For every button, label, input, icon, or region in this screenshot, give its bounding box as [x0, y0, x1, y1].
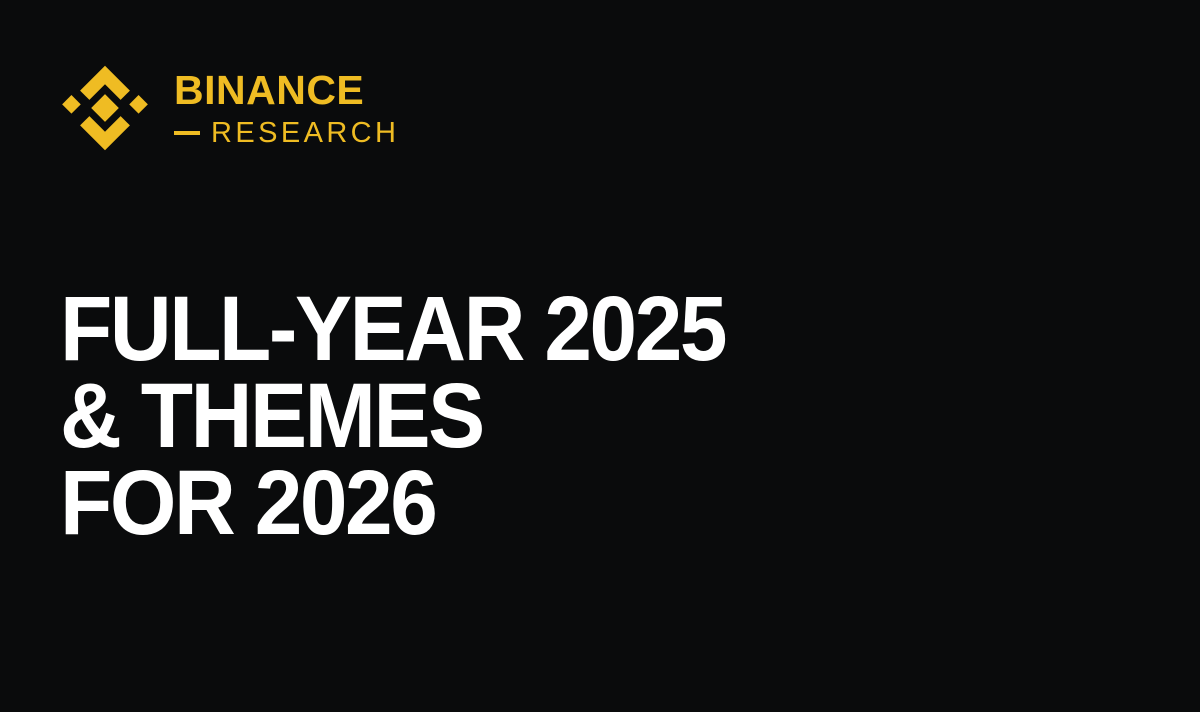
binance-wordmark: BINANCE RESEARCH	[174, 68, 399, 148]
binance-logo-mark	[58, 61, 152, 155]
page-title-line-1: FULL-YEAR 2025	[60, 286, 725, 373]
page-title: FULL-YEAR 2025 & THEMES FOR 2026	[60, 286, 725, 547]
binance-research-logo[interactable]: BINANCE RESEARCH	[58, 61, 399, 155]
page-title-line-2: & THEMES	[60, 373, 725, 460]
brand-sub-label: RESEARCH	[211, 118, 399, 148]
brand-dash-icon	[174, 131, 200, 135]
report-cover: BINANCE RESEARCH FULL-YEAR 2025 & THEMES…	[0, 0, 1200, 712]
brand-name: BINANCE	[174, 70, 399, 112]
brand-subline: RESEARCH	[174, 118, 399, 148]
page-title-line-3: FOR 2026	[60, 460, 725, 547]
